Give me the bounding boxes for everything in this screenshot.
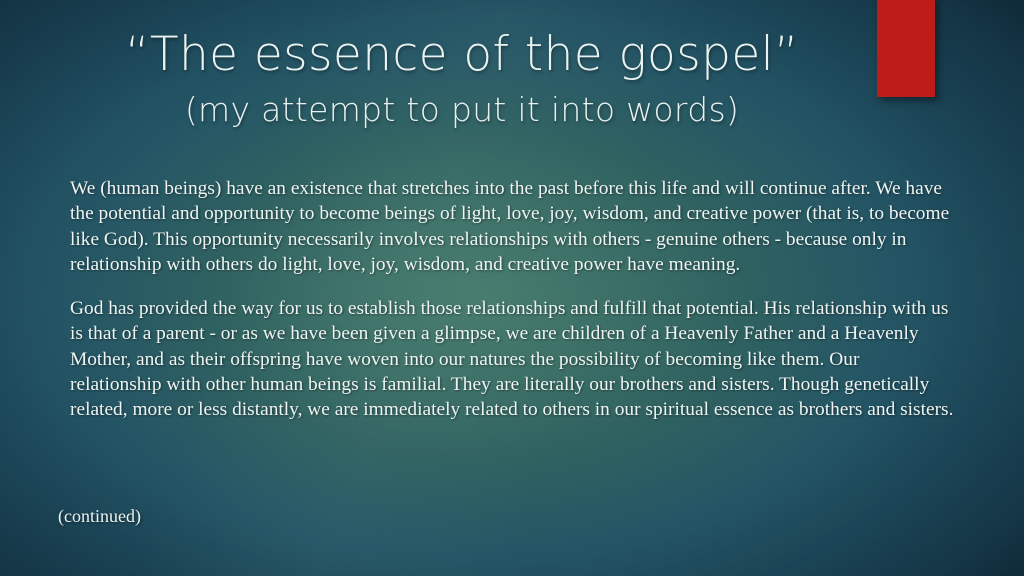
- slide-subtitle: (my attempt to put it into words): [0, 92, 924, 128]
- continued-note: (continued): [58, 505, 141, 527]
- presentation-slide: “The essence of the gospel” (my attempt …: [0, 0, 1024, 576]
- body-paragraph: We (human beings) have an existence that…: [70, 176, 954, 277]
- slide-title: “The essence of the gospel”: [0, 30, 924, 80]
- title-block: “The essence of the gospel” (my attempt …: [0, 30, 1024, 128]
- slide-body: We (human beings) have an existence that…: [70, 176, 954, 423]
- body-paragraph: God has provided the way for us to estab…: [70, 296, 954, 422]
